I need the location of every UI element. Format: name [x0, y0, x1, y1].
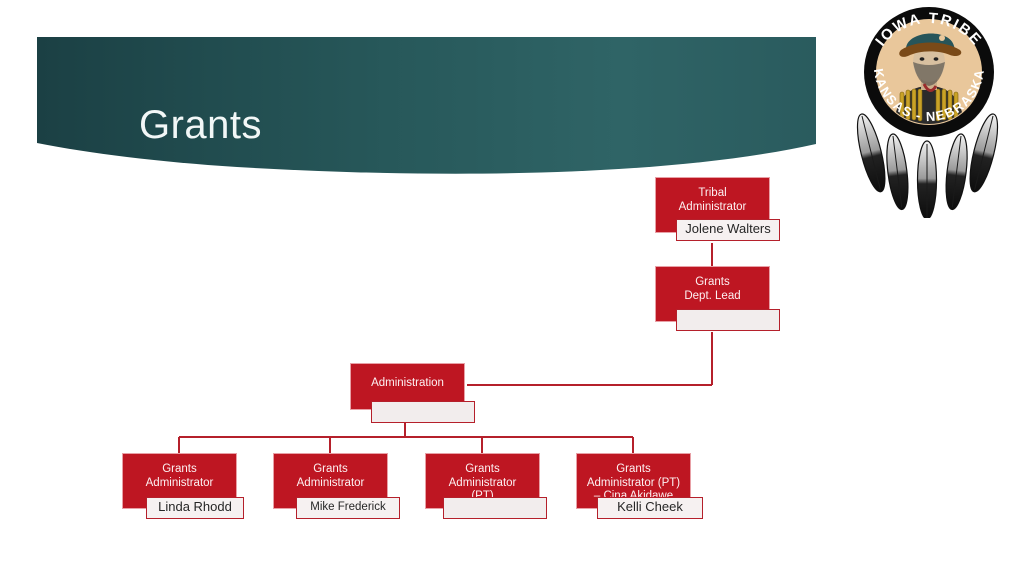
node-role-line1: Grants — [274, 463, 387, 477]
org-chart: Tribal Administrator Jolene Walters Gran… — [0, 0, 1024, 576]
namebox-grants-administrator-4[interactable]: Kelli Cheek — [597, 497, 703, 519]
namebox-grants-administrator-1[interactable]: Linda Rhodd — [146, 497, 244, 519]
slide-canvas: Grants — [0, 0, 1024, 576]
node-role-line2: Administrator — [123, 477, 236, 491]
node-role-line2: Administrator — [426, 477, 539, 491]
namebox-administration[interactable] — [371, 401, 475, 423]
node-role-line2: Dept. Lead — [656, 290, 769, 304]
node-role-line1: Grants — [123, 463, 236, 477]
node-role-line1: Tribal — [656, 187, 769, 201]
namebox-grants-administrator-3[interactable] — [443, 497, 547, 519]
node-role-line2: Administrator — [656, 201, 769, 215]
namebox-tribal-administrator[interactable]: Jolene Walters — [676, 219, 780, 241]
node-role-line2: Administrator — [274, 477, 387, 491]
namebox-grants-administrator-2[interactable]: Mike Frederick — [296, 497, 400, 519]
node-role-line1: Grants — [577, 463, 690, 477]
node-role-line2: Administrator (PT) — [577, 477, 690, 491]
node-role-line1: Administration — [351, 377, 464, 391]
namebox-grants-dept-lead[interactable] — [676, 309, 780, 331]
node-role-line1: Grants — [426, 463, 539, 477]
node-role-line1: Grants — [656, 276, 769, 290]
